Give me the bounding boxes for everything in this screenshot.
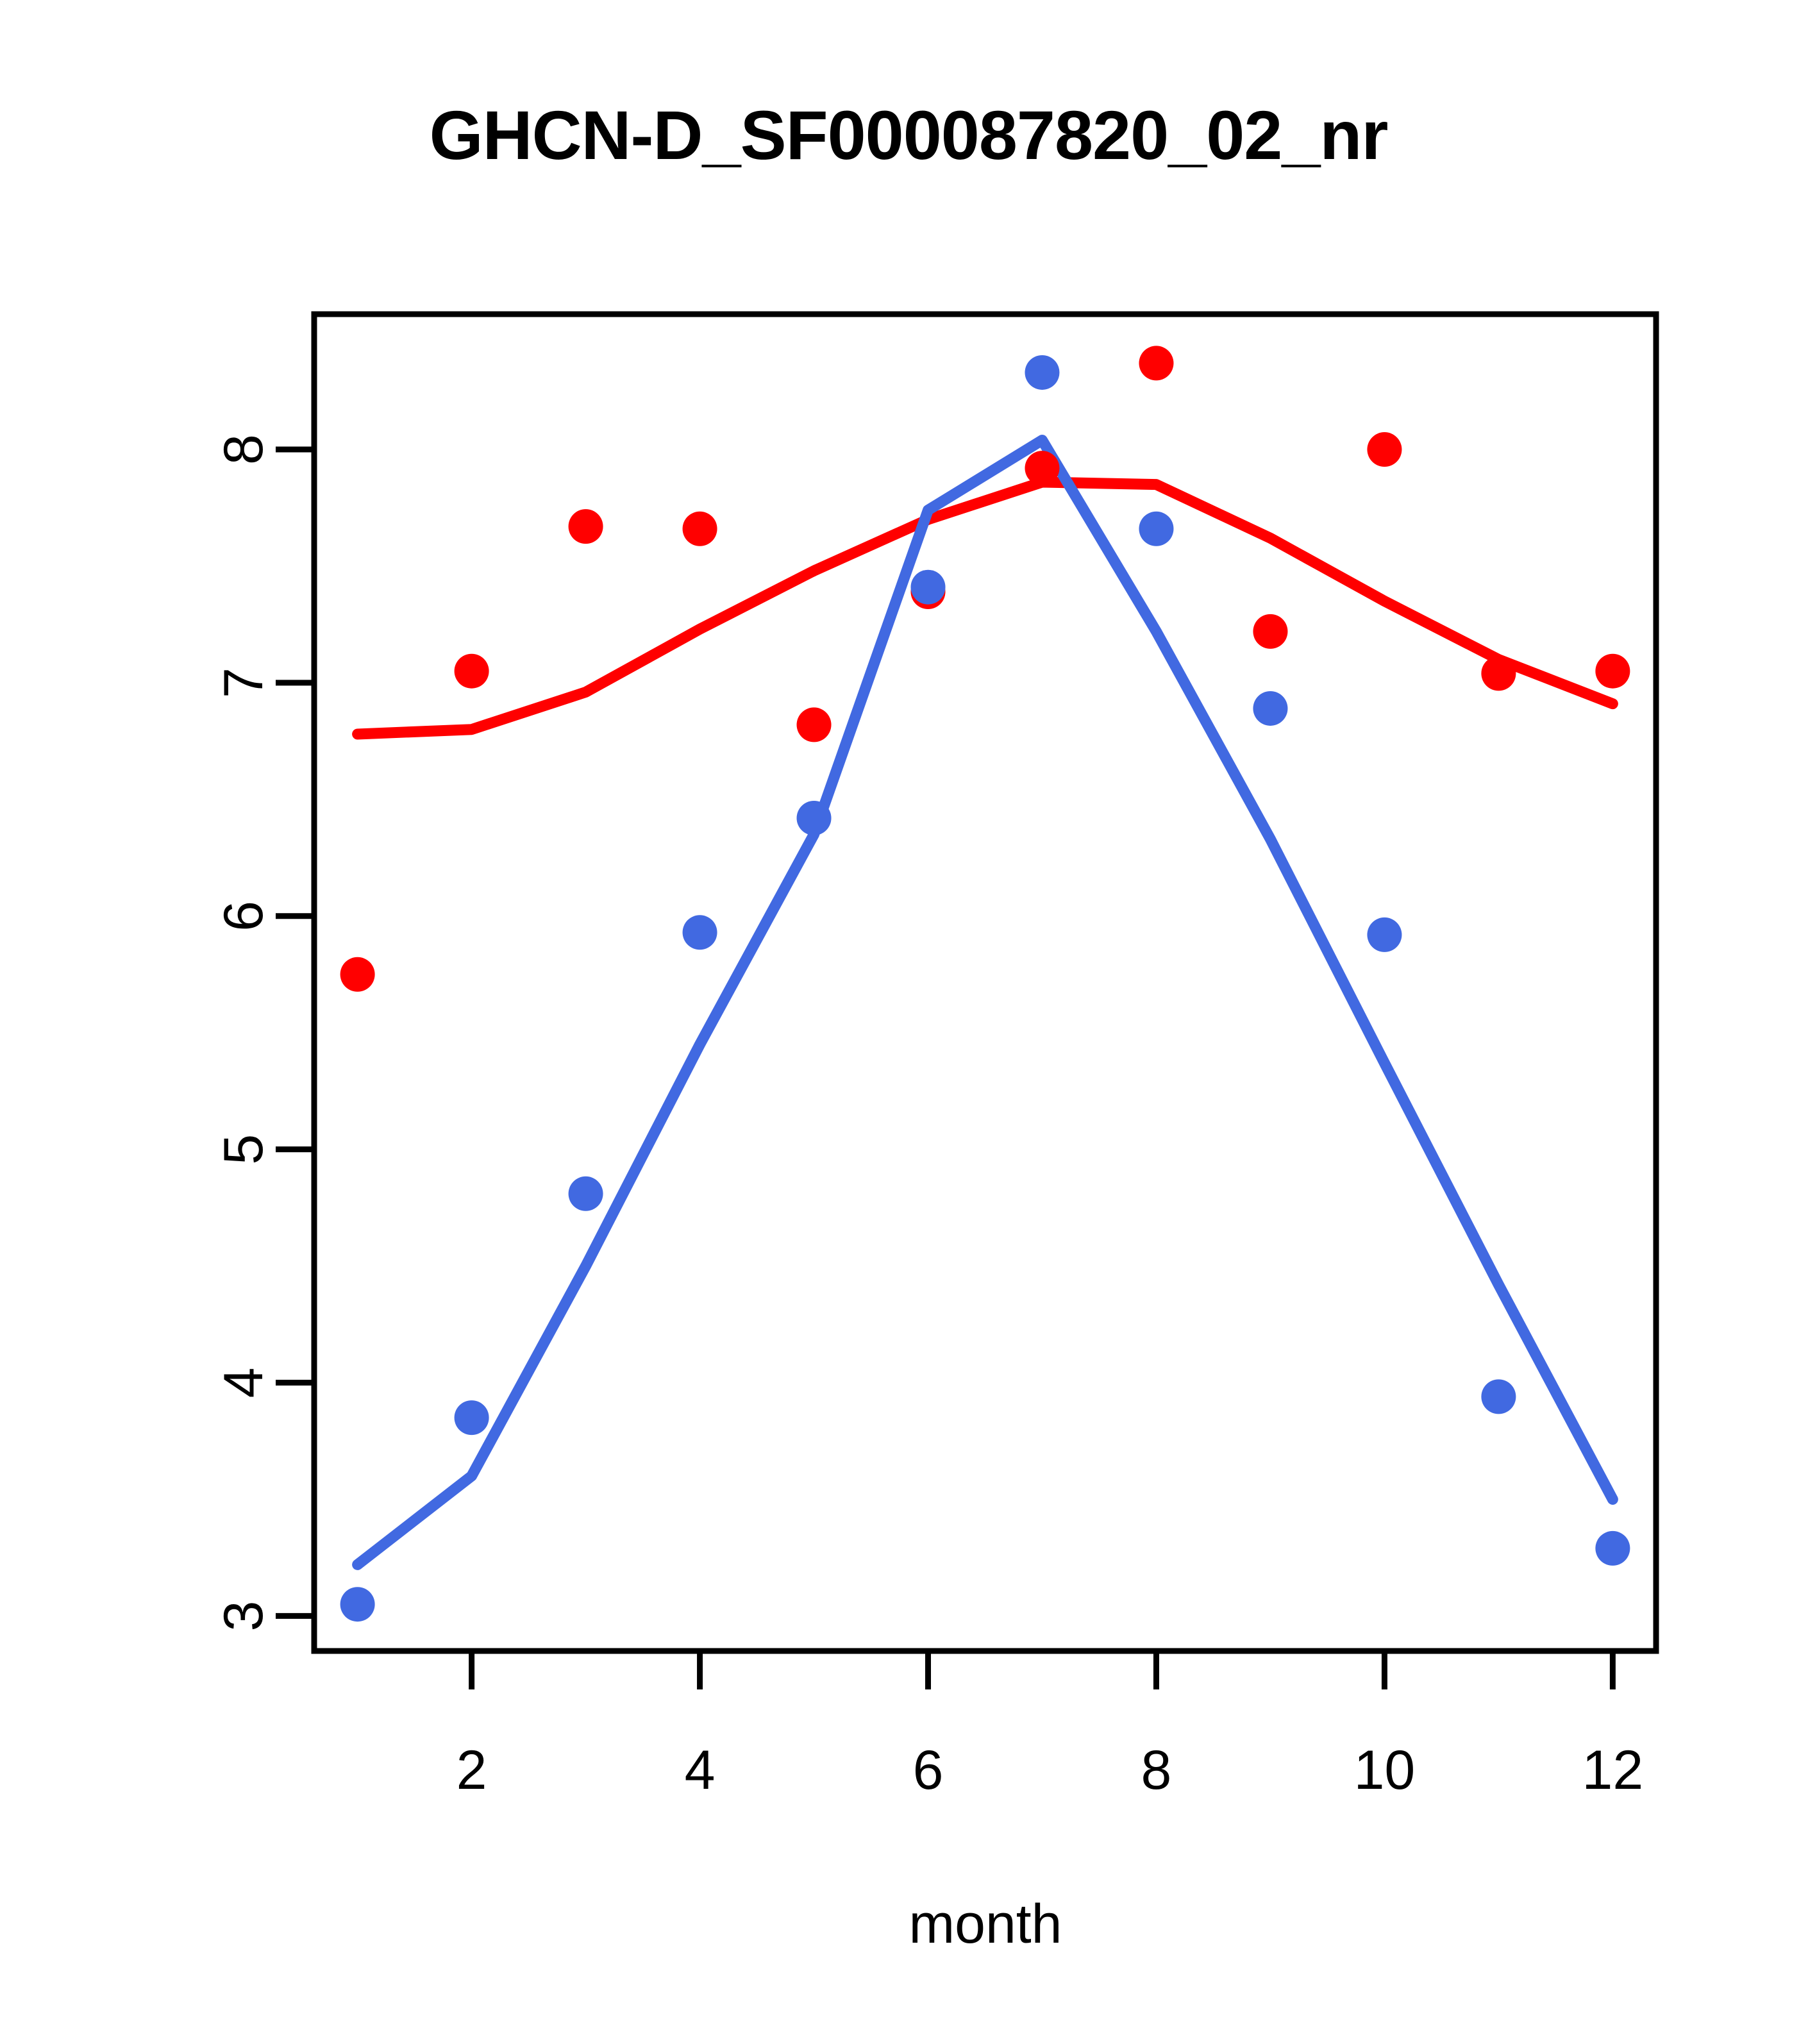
y-tick-label: 7	[213, 667, 274, 698]
data-point-red-points	[1595, 654, 1630, 689]
x-axis-tick-labels: 24681012	[456, 1739, 1644, 1801]
y-tick-label: 6	[213, 901, 274, 932]
data-point-red-points	[1481, 656, 1516, 691]
data-point-blue-points	[1139, 512, 1173, 546]
x-tick-label: 10	[1354, 1739, 1416, 1801]
data-point-blue-points	[455, 1400, 489, 1435]
series-line-blue-line	[358, 440, 1613, 1564]
data-point-red-points	[1367, 432, 1402, 467]
y-tick-label: 4	[213, 1368, 274, 1398]
data-point-blue-points	[1595, 1531, 1630, 1566]
data-point-red-points	[569, 509, 603, 544]
x-tick-label: 4	[685, 1739, 716, 1801]
y-axis-ticks	[276, 449, 314, 1616]
x-axis-title: month	[908, 1893, 1062, 1955]
x-tick-label: 2	[456, 1739, 487, 1801]
series-points-layer	[340, 346, 1630, 1621]
data-point-red-points	[1253, 614, 1287, 649]
plot-figure: GHCN-D_SF000087820_02_nr 345678 24681012…	[0, 0, 1817, 2044]
data-point-blue-points	[569, 1177, 603, 1211]
y-tick-label: 3	[213, 1600, 274, 1631]
data-point-red-points	[683, 512, 717, 546]
x-tick-label: 12	[1582, 1739, 1644, 1801]
data-point-blue-points	[1481, 1379, 1516, 1414]
data-point-blue-points	[911, 570, 946, 605]
series-lines-layer	[358, 440, 1613, 1564]
data-point-red-points	[340, 957, 375, 992]
data-point-blue-points	[1367, 917, 1402, 952]
y-axis-tick-labels: 345678	[213, 434, 274, 1631]
data-point-red-points	[797, 707, 832, 742]
data-point-blue-points	[1253, 691, 1287, 726]
y-tick-label: 8	[213, 434, 274, 465]
data-point-red-points	[1139, 346, 1173, 380]
data-point-blue-points	[1025, 355, 1059, 390]
data-point-red-points	[455, 654, 489, 689]
x-tick-label: 6	[913, 1739, 944, 1801]
y-tick-label: 5	[213, 1134, 274, 1165]
data-point-blue-points	[683, 915, 717, 950]
x-tick-label: 8	[1141, 1739, 1172, 1801]
data-point-blue-points	[797, 801, 832, 835]
chart-canvas: 345678 24681012 month	[0, 0, 1817, 2044]
data-point-red-points	[1025, 451, 1059, 485]
plot-frame	[314, 314, 1656, 1651]
series-line-red-line	[358, 482, 1613, 734]
data-point-blue-points	[340, 1587, 375, 1621]
x-axis-ticks	[472, 1651, 1613, 1689]
